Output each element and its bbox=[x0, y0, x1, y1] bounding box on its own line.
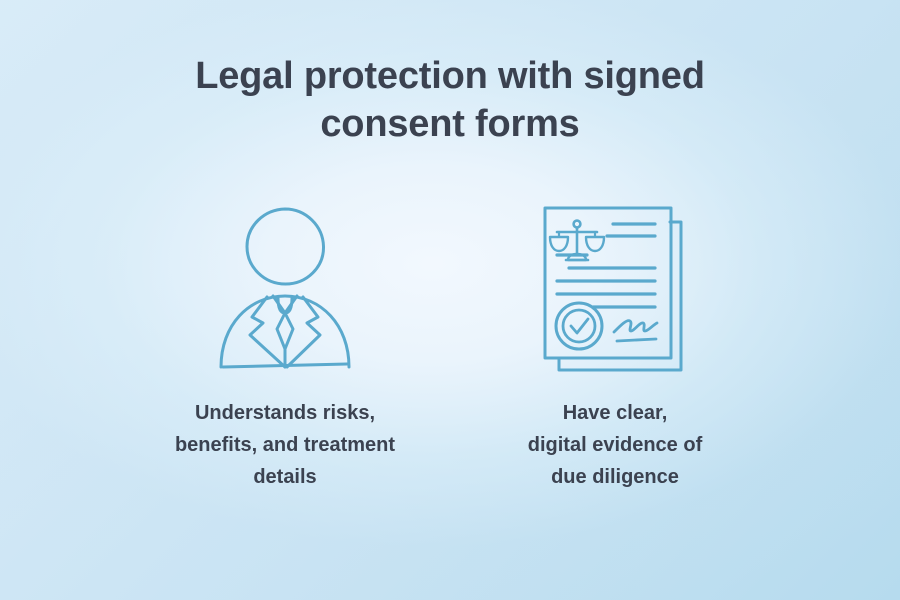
signature-mark bbox=[614, 320, 657, 340]
benefit-column-lawyer: Understands risks, benefits, and treatme… bbox=[130, 196, 440, 493]
legal-document-icon bbox=[525, 196, 705, 381]
benefit-column-document: Have clear, digital evidence of due dili… bbox=[460, 196, 770, 493]
infographic-slide: Legal protection with signed consent for… bbox=[0, 0, 900, 600]
approval-seal-icon bbox=[556, 303, 602, 349]
page-title: Legal protection with signed consent for… bbox=[0, 52, 900, 148]
benefit-caption-document: Have clear, digital evidence of due dili… bbox=[485, 397, 745, 493]
lawyer-person-icon bbox=[195, 196, 375, 381]
benefit-caption-lawyer: Understands risks, benefits, and treatme… bbox=[135, 397, 435, 493]
document-front-page bbox=[545, 208, 671, 358]
document-text-lines bbox=[557, 224, 655, 307]
benefit-columns: Understands risks, benefits, and treatme… bbox=[0, 196, 900, 493]
